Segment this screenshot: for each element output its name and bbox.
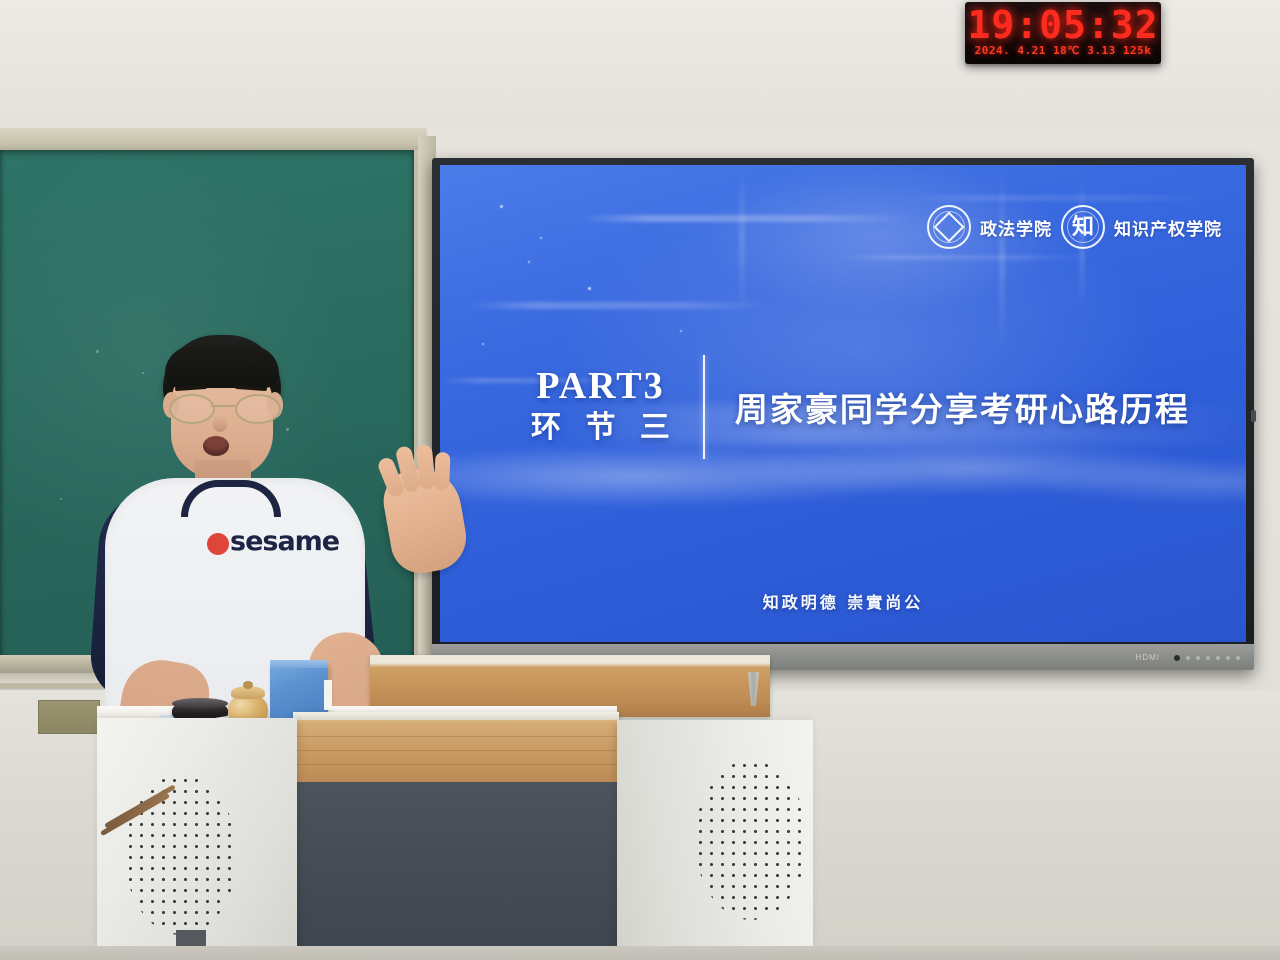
smart-display[interactable]: 政法学院 知 知识产权学院 PART3 环 节 三 周家豪同学分享考研心路历程 <box>432 158 1254 670</box>
black-bowl-rim <box>172 698 228 709</box>
cable <box>100 790 190 830</box>
floor-line <box>0 946 1280 960</box>
zhishichanquan-xueyuan-logo-icon: 知 <box>1061 205 1105 249</box>
slide-motto: 知政明德 崇實尚公 <box>440 589 1246 613</box>
display-side-button[interactable] <box>1251 410 1256 422</box>
shirt-logo-text: sesame <box>230 526 339 557</box>
presenter-hair-front <box>165 346 279 388</box>
light-streak-vertical <box>740 165 744 315</box>
presentation-slide: 政法学院 知 知识产权学院 PART3 环 节 三 周家豪同学分享考研心路历程 <box>440 165 1246 642</box>
chalkboard-frame-top <box>0 128 426 150</box>
classroom-photo: 19:05:32 2024. 4.21 18℃ 3.13 125k <box>0 0 1280 960</box>
slide-logos: 政法学院 知 知识产权学院 <box>927 205 1222 249</box>
shirt-logo-char-1 <box>207 533 229 555</box>
wall-panel-plate <box>38 700 100 734</box>
presenter-mouth <box>203 436 229 456</box>
light-streak <box>580 215 910 222</box>
slide-part-label: PART3 <box>536 367 664 407</box>
speaker-grille-right <box>695 760 807 920</box>
slide-title-block: PART3 环 节 三 周家豪同学分享考研心路历程 <box>524 355 1190 459</box>
particle <box>680 330 682 332</box>
shirt-logo: sesame <box>207 526 339 557</box>
clock-time: 19:05:32 <box>965 3 1161 47</box>
light-streak <box>470 302 770 309</box>
zhengfa-xueyuan-logo-icon <box>927 205 971 249</box>
clock-subline: 2024. 4.21 18℃ 3.13 125k <box>965 44 1161 57</box>
wooden-pot-knob <box>243 681 253 689</box>
display-ports-label: HDMI <box>1136 653 1160 662</box>
white-card <box>324 680 332 710</box>
light-streak <box>835 255 1095 260</box>
slide-title: 周家豪同学分享考研心路历程 <box>735 383 1190 431</box>
slide-part-block: PART3 环 节 三 <box>524 367 703 446</box>
particle <box>540 237 542 239</box>
zhishichanquan-xueyuan-label: 知识产权学院 <box>1114 215 1222 240</box>
display-screen[interactable]: 政法学院 知 知识产权学院 PART3 环 节 三 周家豪同学分享考研心路历程 <box>440 165 1246 642</box>
blue-box-top <box>270 660 328 668</box>
particle <box>500 205 503 208</box>
lectern-front-panel <box>293 782 619 960</box>
led-wall-clock: 19:05:32 2024. 4.21 18℃ 3.13 125k <box>965 2 1161 64</box>
particle <box>528 261 530 263</box>
slide-section-label: 环 节 三 <box>524 409 677 447</box>
presenter-nose <box>213 416 227 432</box>
light-streak-vertical <box>1000 165 1004 355</box>
lectern-top <box>293 712 619 784</box>
particle <box>588 287 591 290</box>
presenter-hand-raised <box>379 462 472 578</box>
light-streak <box>910 195 1210 201</box>
slide-title-divider <box>703 355 705 459</box>
zhengfa-xueyuan-label: 政法学院 <box>980 215 1052 240</box>
display-indicator-dots <box>1174 655 1240 661</box>
